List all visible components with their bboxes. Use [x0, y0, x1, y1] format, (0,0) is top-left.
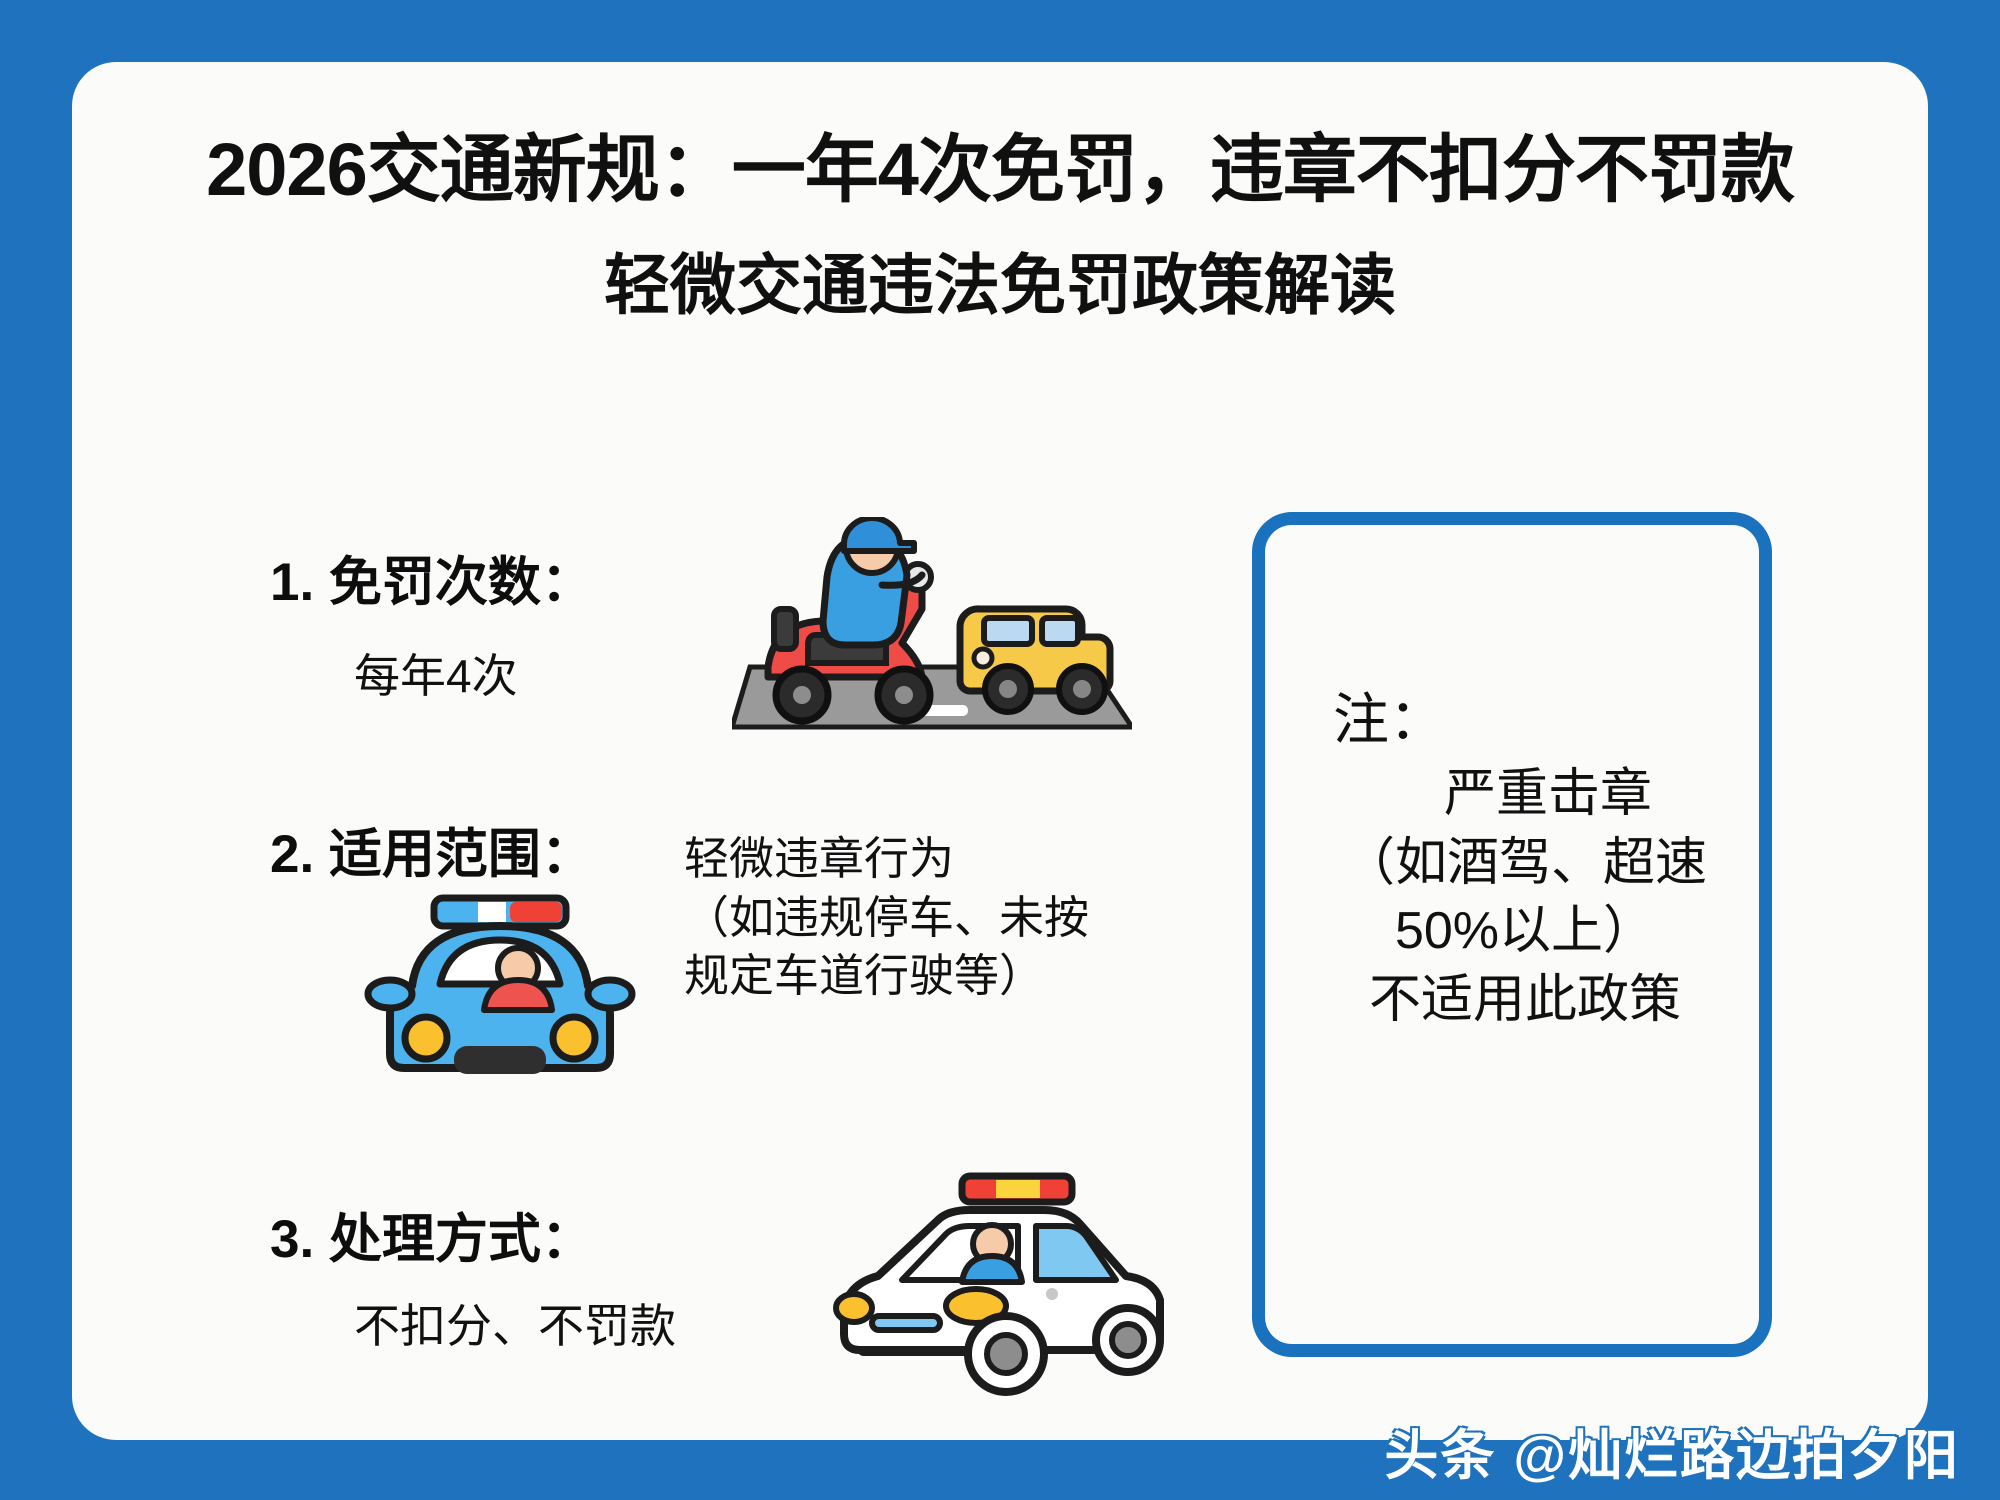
item-1-heading: 1. 免罚次数：	[270, 540, 594, 616]
note-line-2: （如酒驾、超速	[1275, 829, 1775, 898]
item-3-heading: 3. 处理方式：	[270, 1197, 594, 1273]
item-3-detail: 不扣分、不罚款	[354, 1290, 676, 1356]
note-line-3: 50%以上）	[1275, 897, 1775, 966]
note-label: 注：	[1333, 675, 1445, 756]
police-lightbar-icon	[962, 1176, 1072, 1202]
white-police-car-side-illustration	[810, 1170, 1170, 1415]
page-subtitle: 轻微交通违法免罚政策解读	[72, 232, 1928, 328]
item-2-heading: 2. 适用范围：	[270, 812, 594, 888]
item-2-detail-line-2: （如违规停车、未按	[684, 889, 1244, 948]
scooter-and-car-illustration	[732, 517, 1132, 742]
note-body: 严重击章 （如酒驾、超速 50%以上） 不适用此政策	[1275, 760, 1775, 1035]
note-line-4: 不适用此政策	[1275, 966, 1775, 1035]
note-line-1: 严重击章	[1275, 760, 1775, 829]
item-1-detail: 每年4次	[354, 640, 518, 706]
police-lightbar-icon	[434, 898, 566, 926]
item-2-detail-line-3: 规定车道行驶等）	[684, 947, 1244, 1006]
item-2-detail: 轻微违章行为 （如违规停车、未按 规定车道行驶等）	[684, 830, 1244, 1006]
page-title: 2026交通新规：一年4次免罚，违章不扣分不罚款	[72, 110, 1928, 217]
watermark: 头条 @灿烂路边拍夕阳	[1384, 1411, 1960, 1490]
content-card: 2026交通新规：一年4次免罚，违章不扣分不罚款 轻微交通违法免罚政策解读 1.…	[72, 62, 1928, 1440]
note-box: 注： 严重击章 （如酒驾、超速 50%以上） 不适用此政策	[1252, 512, 1772, 1357]
infographic-poster: 2026交通新规：一年4次免罚，违章不扣分不罚款 轻微交通违法免罚政策解读 1.…	[0, 0, 2000, 1500]
item-2-detail-line-1: 轻微违章行为	[684, 830, 1244, 889]
blue-police-car-front-illustration	[350, 890, 650, 1095]
